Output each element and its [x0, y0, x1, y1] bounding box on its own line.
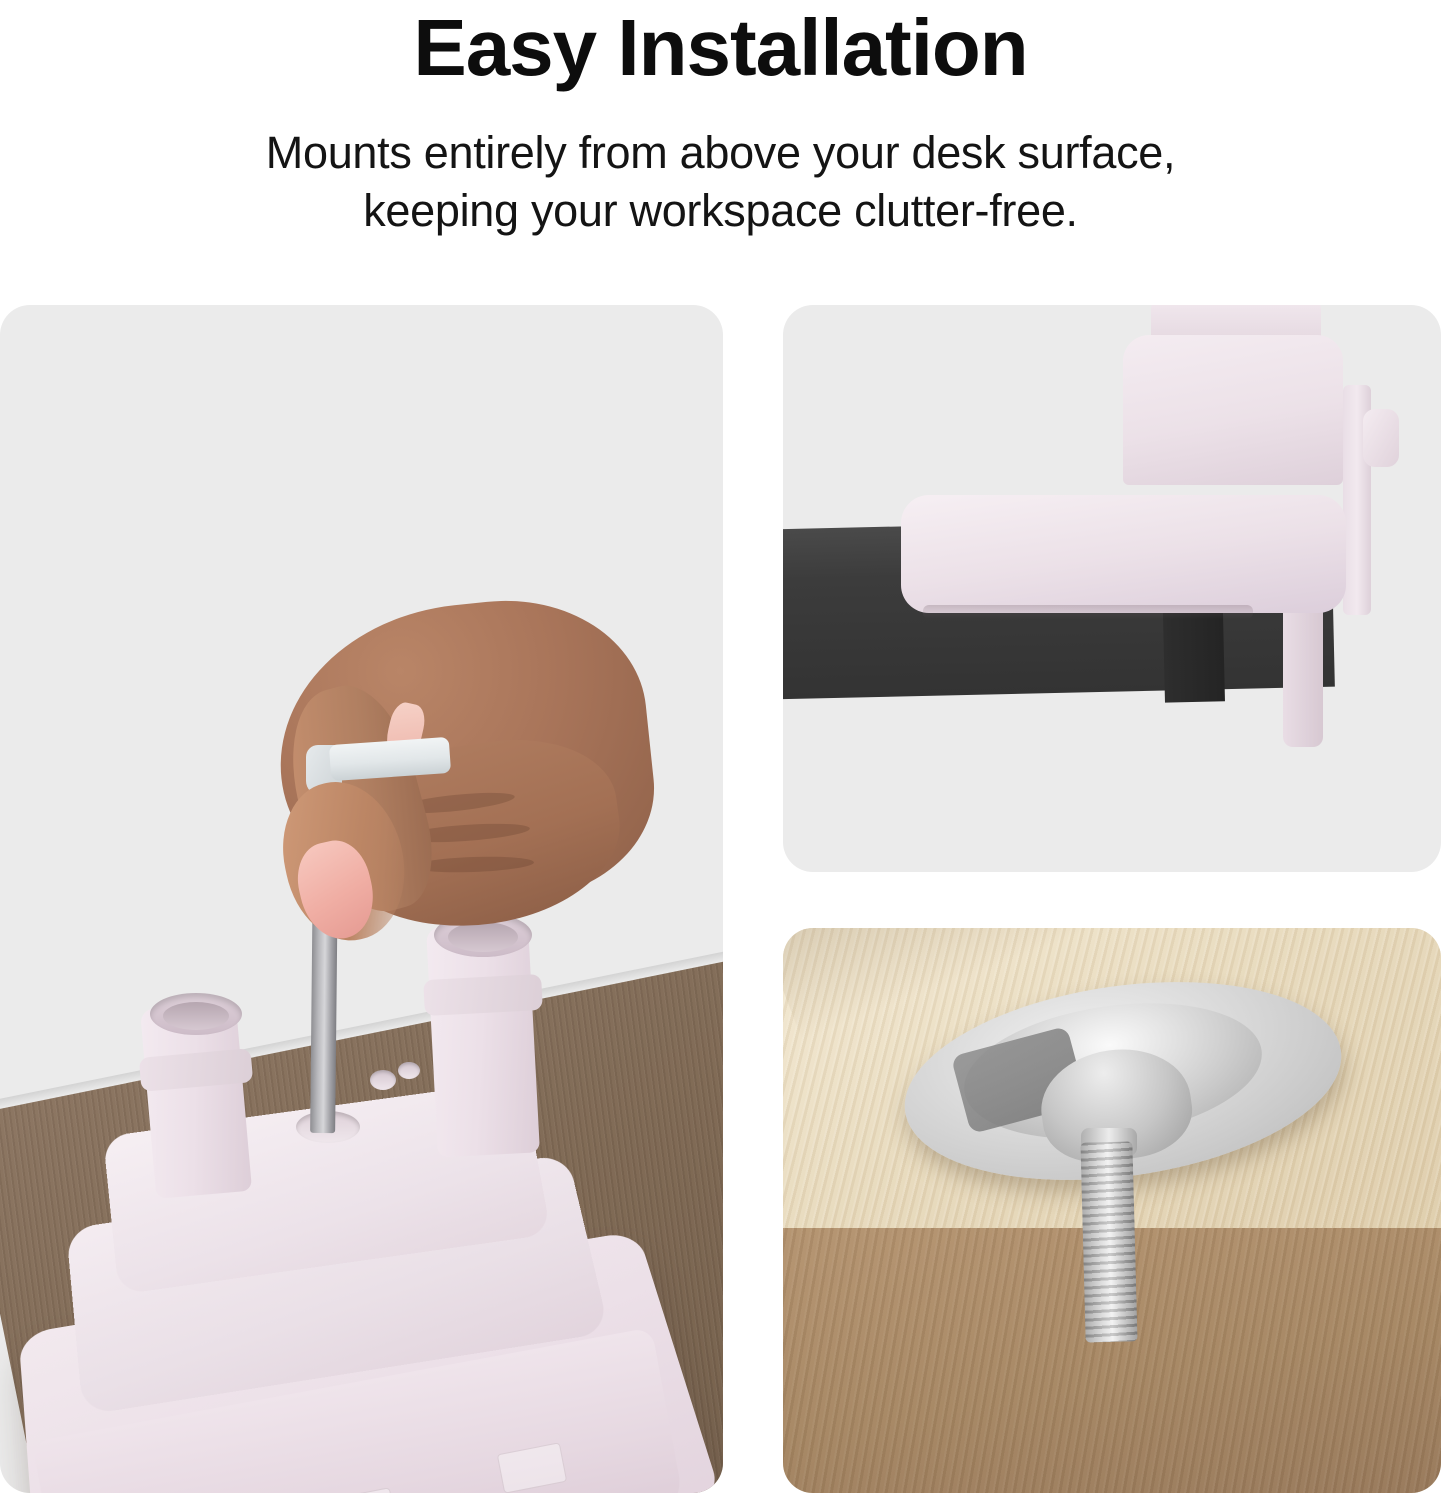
clamp-upper-body [1123, 335, 1343, 485]
mounting-post-hole-right [448, 922, 518, 952]
clamp-lower-jaw [1283, 597, 1323, 747]
mounting-post-right [426, 922, 540, 1157]
mounting-post-collar-right [423, 974, 543, 1016]
clamp-top-pad [901, 495, 1346, 613]
panel-grommet: Grommet Desk thickness 0.39" ~ 1.6" [783, 928, 1441, 1493]
subtitle-line-2: keeping your workspace clutter-free. [0, 182, 1441, 240]
screw-hole [370, 1070, 396, 1090]
panel-top-mounted: Top-Mounted [0, 305, 723, 1493]
panel-clamp: Clamp Desk thickness 0.39" ~ 1.8" [783, 305, 1441, 872]
clamp-latch-knob [1363, 409, 1399, 467]
page-subtitle: Mounts entirely from above your desk sur… [0, 124, 1441, 240]
screw-hole [398, 1062, 420, 1079]
grommet-threaded-bolt [1080, 1141, 1137, 1342]
clamp-pad-shadow [923, 605, 1253, 619]
subtitle-line-1: Mounts entirely from above your desk sur… [0, 124, 1441, 182]
page-title: Easy Installation [0, 0, 1441, 100]
header: Easy Installation Mounts entirely from a… [0, 0, 1441, 300]
mounting-post-hole-left [163, 1002, 229, 1030]
